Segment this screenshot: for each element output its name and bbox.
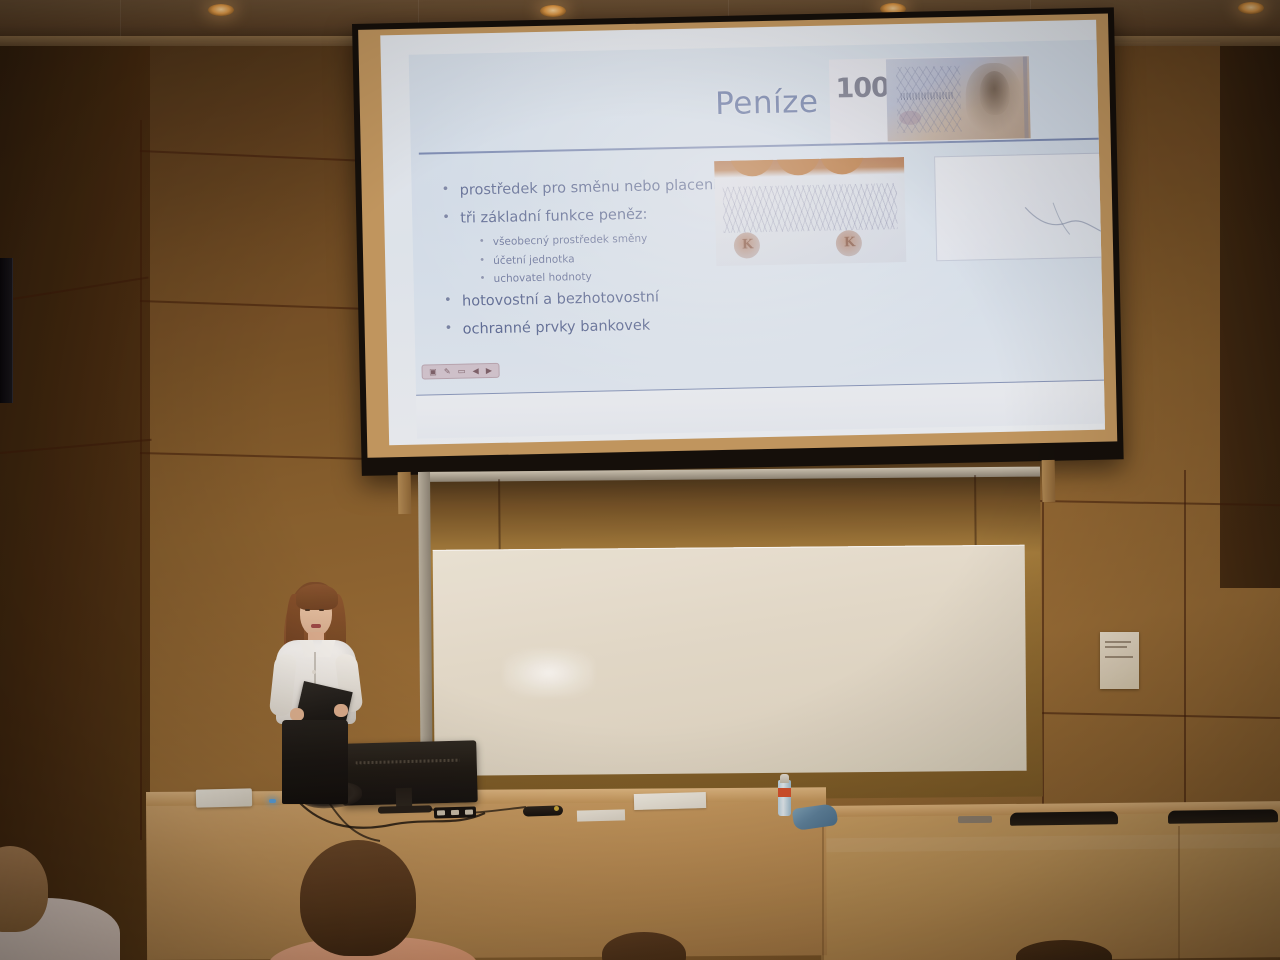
bullet-item: hotovostní a bezhotovostní <box>436 286 766 313</box>
presenter-hand-right <box>334 704 348 717</box>
whiteboard[interactable] <box>433 545 1027 776</box>
presenter-button <box>312 670 316 674</box>
banknote-100-image: 100 <box>829 55 1031 143</box>
screen-surface: Peníze prostředek pro směnu nebo placení… <box>380 20 1105 446</box>
banknote-artwork <box>886 56 1031 141</box>
paper-sheet[interactable] <box>577 809 625 821</box>
presenter-mouth <box>311 624 321 628</box>
banknote-microtext <box>901 92 953 100</box>
wall-seam <box>1184 470 1186 810</box>
wall-display-icon <box>0 258 13 403</box>
slide-icon[interactable]: ▭ <box>458 367 466 375</box>
screen-support-leg <box>1042 460 1056 502</box>
wall-notice <box>1100 632 1139 689</box>
whiteboard-seam <box>974 475 977 545</box>
watermark-pattern <box>723 183 898 233</box>
whiteboard-seam <box>498 479 501 549</box>
screen-support-leg <box>398 472 412 514</box>
spray-bottle-label <box>778 788 791 797</box>
spray-bottle[interactable] <box>778 780 791 816</box>
paper-sheet[interactable] <box>634 792 706 810</box>
audience-seat-back <box>1168 809 1278 824</box>
prev-slide-icon[interactable]: ◀ <box>472 367 478 375</box>
left-wall <box>0 0 150 960</box>
desk-seam <box>822 806 824 960</box>
pointer-icon[interactable]: ▣ <box>429 368 437 376</box>
presenter-eye <box>305 609 310 611</box>
whiteboard-light-reflection <box>504 648 594 697</box>
banknote-portrait-face <box>979 71 1010 116</box>
whiteboard-housing <box>418 467 1043 802</box>
ceiling-light-icon <box>1238 2 1264 14</box>
banknote-denomination-label: 100 <box>835 72 889 104</box>
bullet-item: ochranné prvky bankovek <box>436 314 766 341</box>
clicker-indicator-icon <box>554 806 559 811</box>
presentation-slide: Peníze prostředek pro směnu nebo placení… <box>409 39 1105 394</box>
ceiling-light-icon <box>540 5 566 17</box>
powerpoint-presenter-toolbar[interactable]: ▣ ✎ ▭ ◀ ▶ <box>421 363 499 380</box>
presenter-hair-fringe <box>296 584 338 610</box>
ceiling-light-icon <box>208 4 234 16</box>
watermark-letter: K <box>844 235 856 250</box>
sub-bullet-item: uchovatel hodnoty <box>435 267 765 288</box>
wall-seam <box>140 120 142 840</box>
pen-icon[interactable]: ✎ <box>444 367 451 375</box>
next-slide-icon[interactable]: ▶ <box>486 367 492 375</box>
presenter-skirt <box>282 720 348 804</box>
banknote-security-thread-image <box>934 152 1105 261</box>
watermark-letter: K <box>742 237 754 252</box>
spray-bottle-cap <box>780 774 789 783</box>
presenter-eye <box>319 609 324 611</box>
security-thread-line-icon <box>1023 200 1105 242</box>
audience-member-center-head <box>300 840 416 956</box>
projection-screen: Peníze prostředek pro směnu nebo placení… <box>352 7 1124 476</box>
audience-seat-back <box>1010 811 1118 826</box>
desk-tier-right <box>820 807 1280 960</box>
lecture-hall-photo: Peníze prostředek pro směnu nebo placení… <box>0 0 1280 960</box>
banknote-security-strip <box>1023 56 1029 138</box>
laptop-or-tablet[interactable] <box>196 788 252 807</box>
presenter <box>266 578 376 804</box>
keypad-remote[interactable] <box>434 806 476 818</box>
desk-seam <box>1178 826 1180 960</box>
desk-cable-grommet <box>958 816 992 823</box>
banknote-watermark-image: K K <box>714 157 906 266</box>
